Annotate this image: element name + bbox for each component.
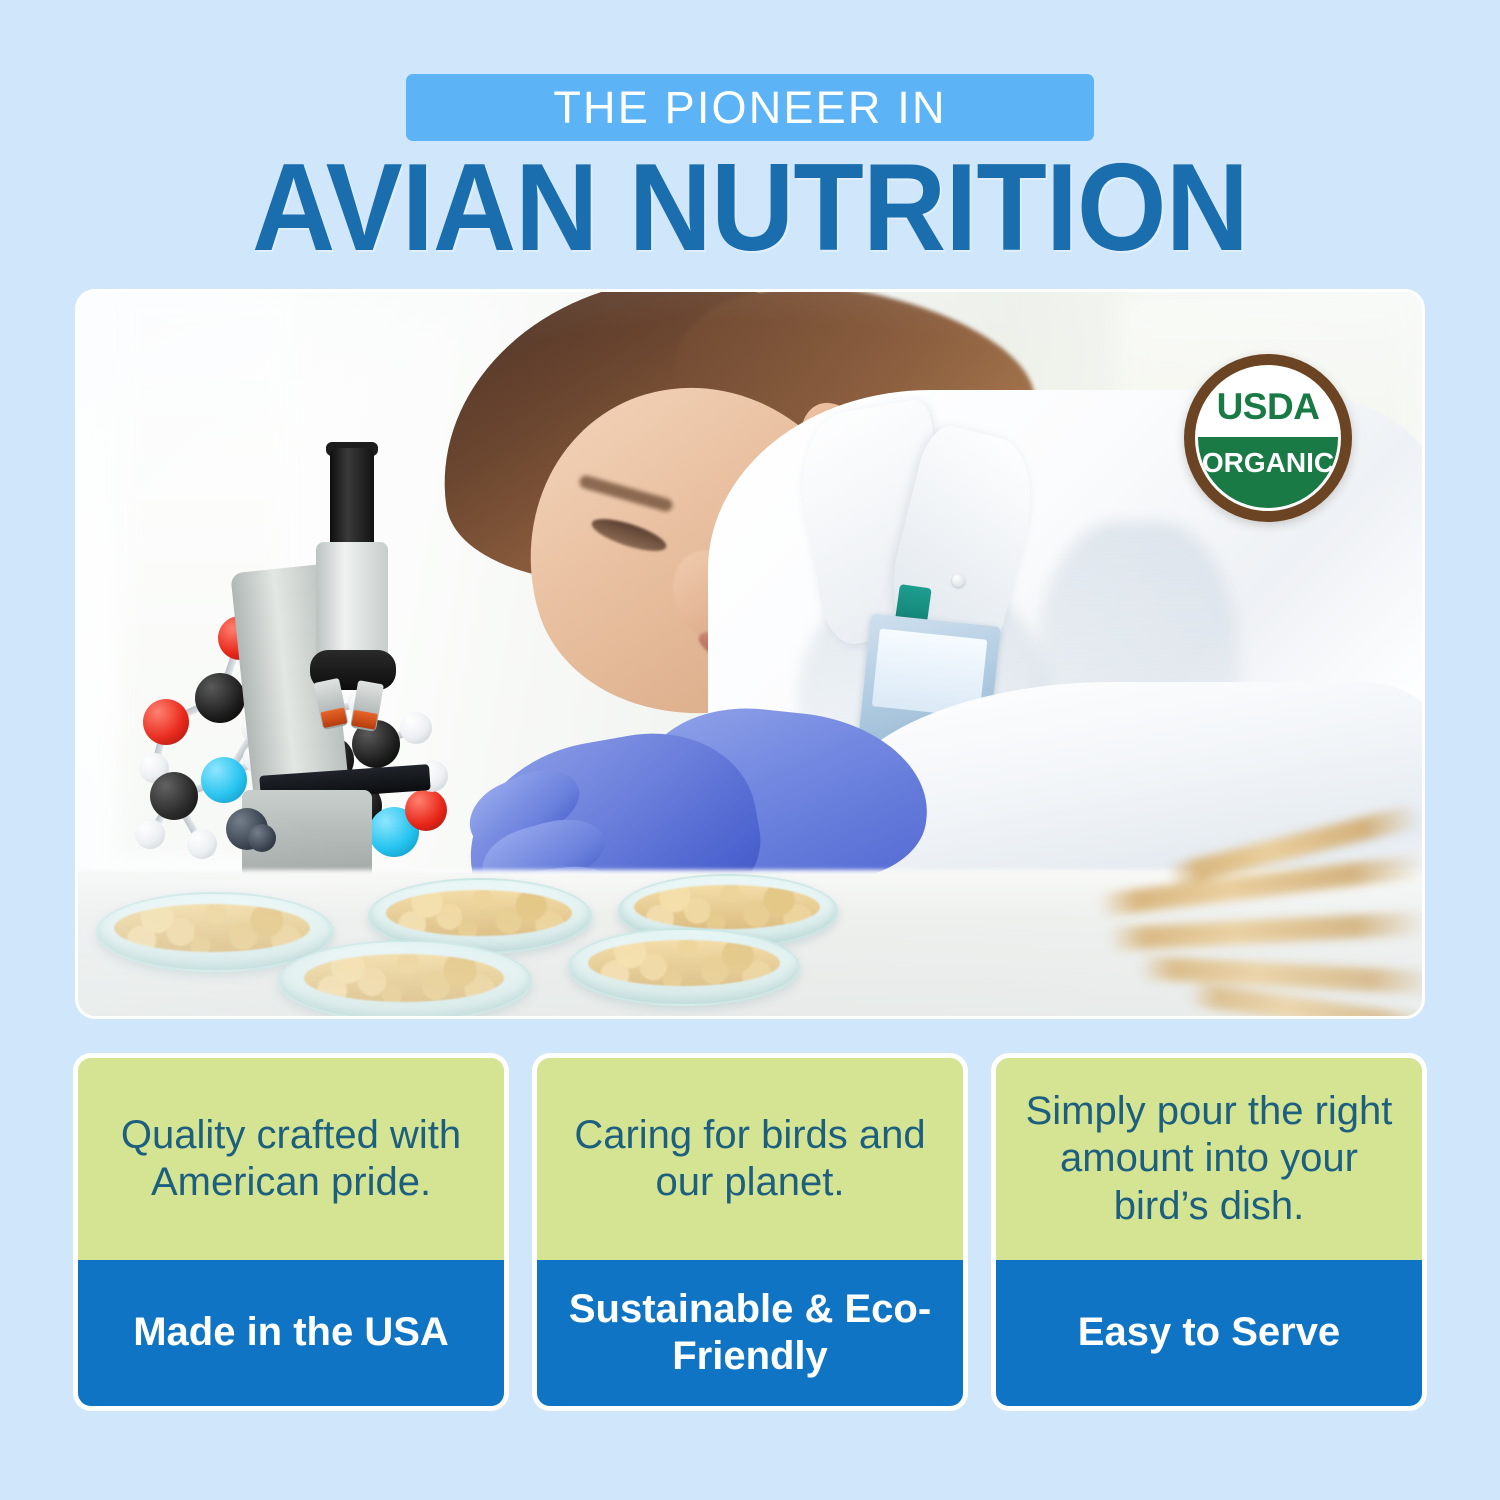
organic-label: ORGANIC [1202, 449, 1334, 477]
grain-sample [634, 885, 820, 929]
grain-sample [386, 890, 572, 936]
objective-ring [321, 707, 348, 728]
molecule-atom-o [143, 699, 189, 745]
wheat-stalk [1107, 911, 1422, 951]
feature-card-label: Easy to Serve [1078, 1309, 1340, 1356]
feature-card-made-in-usa: Quality crafted with American pride. Mad… [78, 1058, 504, 1406]
page-title: AVIAN NUTRITION [53, 146, 1448, 270]
eyebrow-text: THE PIONEER IN [553, 85, 946, 130]
grain-sample [114, 904, 310, 952]
objective-ring [351, 710, 377, 730]
molecule-atom-c [150, 772, 198, 820]
feature-card-easy-to-serve: Simply pour the right amount into your b… [996, 1058, 1422, 1406]
feature-card-label-panel: Sustainable & Eco-Friendly [537, 1260, 963, 1406]
feature-card-description-panel: Simply pour the right amount into your b… [996, 1058, 1422, 1260]
feature-card-description: Quality crafted with American pride. [100, 1112, 482, 1206]
feature-card-description: Caring for birds and our planet. [559, 1112, 941, 1206]
feature-card-label: Sustainable & Eco-Friendly [555, 1286, 945, 1380]
usda-organic-badge: USDA ORGANIC [1184, 354, 1352, 522]
grain-sample [304, 954, 504, 1002]
petri-dish [568, 928, 800, 1006]
feature-card-label: Made in the USA [133, 1309, 449, 1356]
usda-label: USDA [1217, 380, 1320, 425]
feature-card-description-panel: Quality crafted with American pride. [78, 1058, 504, 1260]
wheat-stalk [1137, 956, 1422, 995]
coat-button [952, 574, 965, 587]
molecule-atom-h [135, 819, 165, 849]
header: THE PIONEER IN AVIAN NUTRITION [0, 0, 1500, 275]
usda-badge-inner: USDA ORGANIC [1195, 365, 1341, 511]
feature-card-label-panel: Easy to Serve [996, 1260, 1422, 1406]
microscope-fine-knob [248, 824, 276, 852]
feature-cards: Quality crafted with American pride. Mad… [78, 1058, 1422, 1406]
grain-sample [588, 940, 780, 986]
usda-badge-top: USDA [1198, 368, 1338, 437]
feature-card-label-panel: Made in the USA [78, 1260, 504, 1406]
petri-dish [278, 940, 532, 1016]
feature-card-description: Simply pour the right amount into your b… [1018, 1088, 1400, 1230]
usda-badge-bottom: ORGANIC [1198, 437, 1338, 508]
wheat-stalks [1098, 832, 1422, 1016]
microscope-eyepiece [330, 448, 374, 548]
eyebrow-banner: THE PIONEER IN [406, 74, 1094, 141]
feature-card-sustainable-eco-friendly: Caring for birds and our planet. Sustain… [537, 1058, 963, 1406]
feature-card-description-panel: Caring for birds and our planet. [537, 1058, 963, 1260]
